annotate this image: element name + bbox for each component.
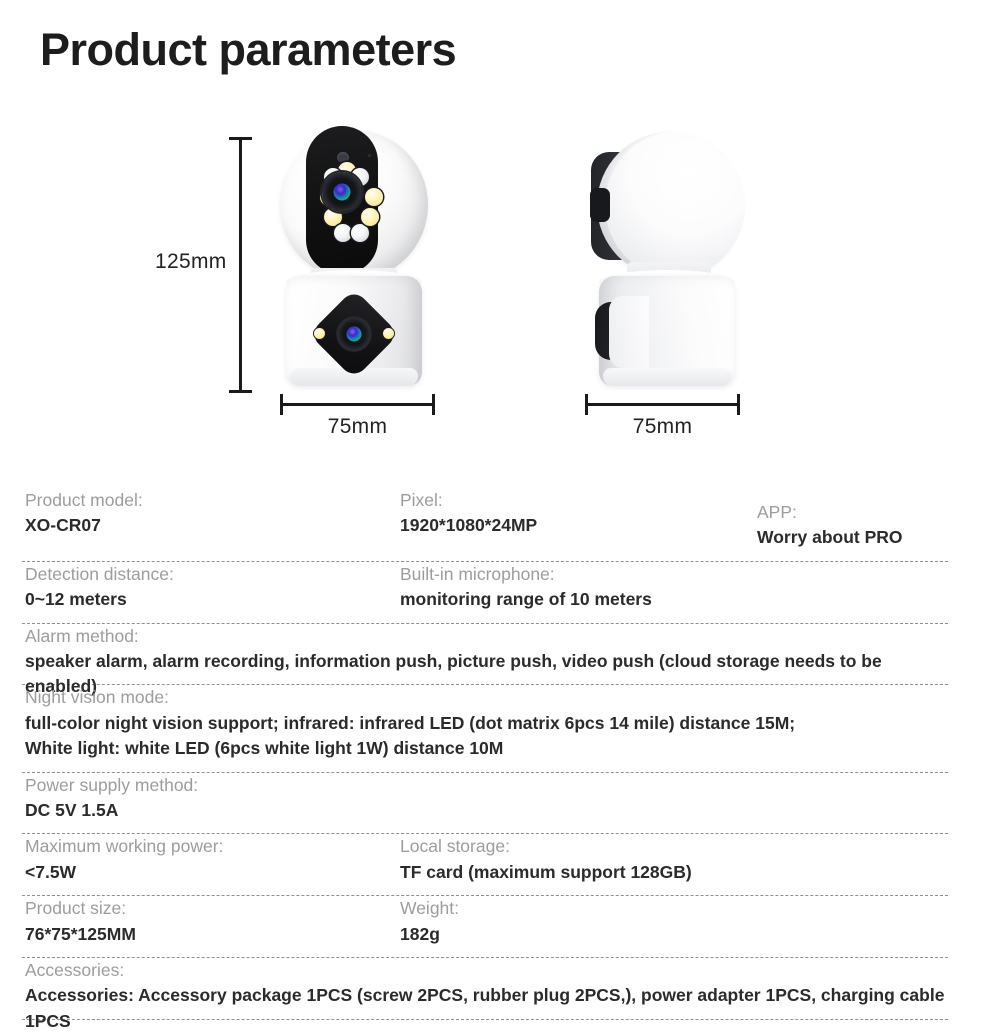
dimension-line-horizontal [280,403,435,406]
spec-cell: Built-in microphone:monitoring range of … [400,562,652,613]
spec-label: Product size: [25,896,136,921]
spec-row: Maximum working power:<7.5WLocal storage… [22,834,948,896]
spec-value: Accessories: Accessory package 1PCS (scr… [25,983,951,1034]
spec-label: Alarm method: [25,624,951,649]
spec-label: Local storage: [400,834,692,859]
spec-cell: Maximum working power:<7.5W [25,834,223,885]
spec-value: full-color night vision support; infrare… [25,711,951,736]
spec-value: XO-CR07 [25,513,143,538]
side-width-dimension: 75mm [585,403,740,433]
spec-label: Detection distance: [25,562,174,587]
spec-cell: Pixel:1920*1080*24MP [400,488,537,539]
camera-lens-icon [322,172,362,212]
led-icon [351,224,369,242]
product-diagram: 125mm [0,110,1000,460]
spec-cell: Product model:XO-CR07 [25,488,143,539]
led-icon [334,224,352,242]
spec-row: Power supply method:DC 5V 1.5A [22,773,948,835]
led-icon [361,208,379,226]
spec-value: <7.5W [25,860,223,885]
camera-front-view [268,130,440,400]
spec-value: TF card (maximum support 128GB) [400,860,692,885]
camera-faceplate [306,126,378,274]
camera-side-notch [590,188,610,222]
spec-value: monitoring range of 10 meters [400,587,652,612]
spec-cell: APP:Worry about PRO [757,500,903,551]
spec-label: APP: [757,500,903,525]
spec-cell: Detection distance:0~12 meters [25,562,174,613]
spec-value: 1920*1080*24MP [400,513,537,538]
spec-label: Power supply method: [25,773,951,798]
front-width-dimension-label: 75mm [280,415,435,439]
spec-cell: Weight:182g [400,896,459,947]
spec-value: 0~12 meters [25,587,174,612]
spec-row: Product model:XO-CR07Pixel:1920*1080*24M… [22,488,948,562]
spec-label: Weight: [400,896,459,921]
dimension-line-horizontal [585,403,740,406]
specifications-table: Product model:XO-CR07Pixel:1920*1080*24M… [22,488,948,1020]
spec-row: Accessories:Accessories: Accessory packa… [22,958,948,1020]
page-title: Product parameters [40,24,456,76]
spec-label: Product model: [25,488,143,513]
camera-base-overlay [609,296,649,368]
spec-label: Maximum working power: [25,834,223,859]
spec-value: 182g [400,922,459,947]
spec-label: Night vision mode: [25,685,951,710]
camera-base-lip [603,368,731,386]
microphone-hole-icon [368,154,371,157]
camera-head-sphere-overlay [605,132,745,278]
spec-value: DC 5V 1.5A [25,798,951,823]
spec-row: Detection distance:0~12 metersBuilt-in m… [22,562,948,624]
dimension-cap-bottom [229,390,252,393]
spec-cell: Night vision mode:full-color night visio… [25,685,951,761]
spec-value-line2: White light: white LED (6pcs white light… [25,736,951,761]
camera-side-view [575,130,750,400]
spec-row: Product size:76*75*125MMWeight:182g [22,896,948,958]
mini-led-icon [314,328,325,339]
height-dimension-label: 125mm [155,250,227,274]
side-width-dimension-label: 75mm [585,415,740,439]
second-camera-lens-icon [336,316,372,352]
spec-row: Alarm method:speaker alarm, alarm record… [22,624,948,686]
spec-cell: Product size:76*75*125MM [25,896,136,947]
dimension-cap-right [432,394,435,415]
front-width-dimension: 75mm [280,403,435,433]
spec-label: Built-in microphone: [400,562,652,587]
mini-led-icon [383,328,394,339]
spec-cell: Power supply method:DC 5V 1.5A [25,773,951,824]
spec-cell: Accessories:Accessories: Accessory packa… [25,958,951,1034]
dimension-line-vertical [239,138,242,392]
spec-row: Night vision mode:full-color night visio… [22,685,948,772]
spec-label: Pixel: [400,488,537,513]
spec-value: 76*75*125MM [25,922,136,947]
spec-label: Accessories: [25,958,951,983]
dimension-cap-right [737,394,740,415]
spec-cell: Local storage:TF card (maximum support 1… [400,834,692,885]
led-icon [365,188,383,206]
spec-value: Worry about PRO [757,525,903,550]
